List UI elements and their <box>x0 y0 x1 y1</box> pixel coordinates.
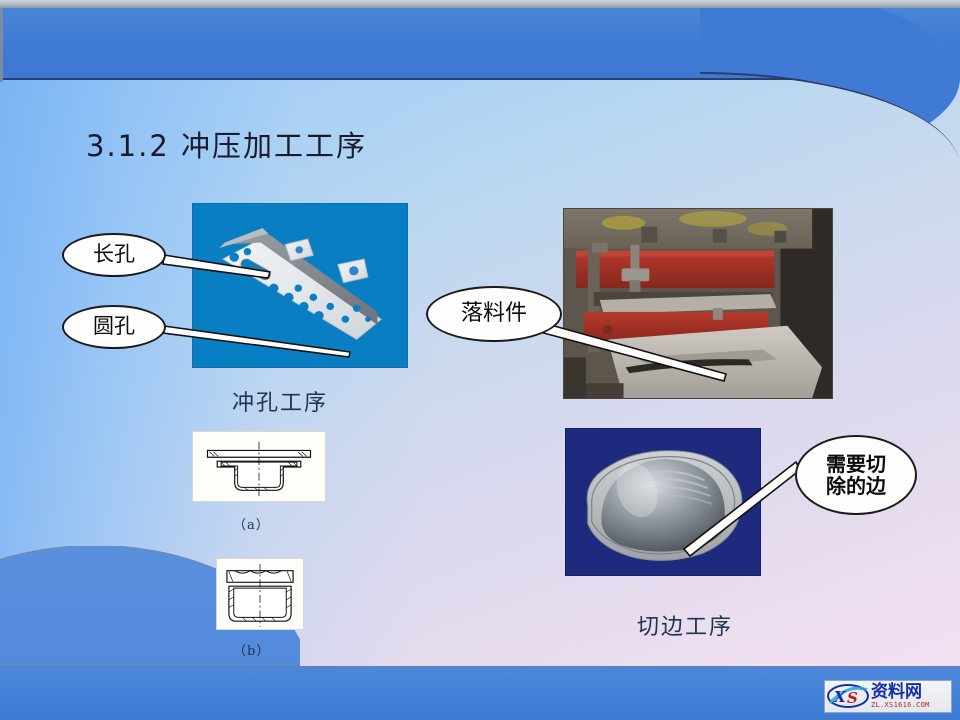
callout-round-hole-label: 圆孔 <box>93 315 135 339</box>
leader-round-hole <box>163 326 350 357</box>
watermark-url: ZL.XS1616.COM <box>871 702 930 709</box>
svg-text:X: X <box>833 688 847 706</box>
callout-round-hole[interactable]: 圆孔 <box>62 305 166 349</box>
callout-trim-edge[interactable]: 需要切 除的边 <box>795 435 917 515</box>
watermark-badge: X S 资料网 ZL.XS1616.COM <box>824 680 952 713</box>
callout-slot-hole-label: 长孔 <box>93 243 135 267</box>
xs-logo-icon: X S <box>825 681 871 712</box>
slide-canvas: 3.1.2 冲压加工工序 <box>0 0 960 720</box>
callout-blank-part[interactable]: 落料件 <box>426 286 562 342</box>
callout-leader-lines <box>0 0 960 720</box>
callout-trim-edge-label-line1: 需要切 <box>826 453 886 475</box>
watermark-site-name: 资料网 <box>871 684 930 701</box>
callout-blank-part-label: 落料件 <box>461 302 527 327</box>
leader-slot-hole <box>163 255 270 278</box>
leader-trim-edge <box>684 462 800 556</box>
callout-trim-edge-label-line2: 除的边 <box>826 475 886 497</box>
callout-slot-hole[interactable]: 长孔 <box>62 233 166 277</box>
svg-text:S: S <box>847 689 858 707</box>
xs-logo-svg: X S <box>825 681 871 712</box>
leader-blank-part <box>536 322 726 381</box>
